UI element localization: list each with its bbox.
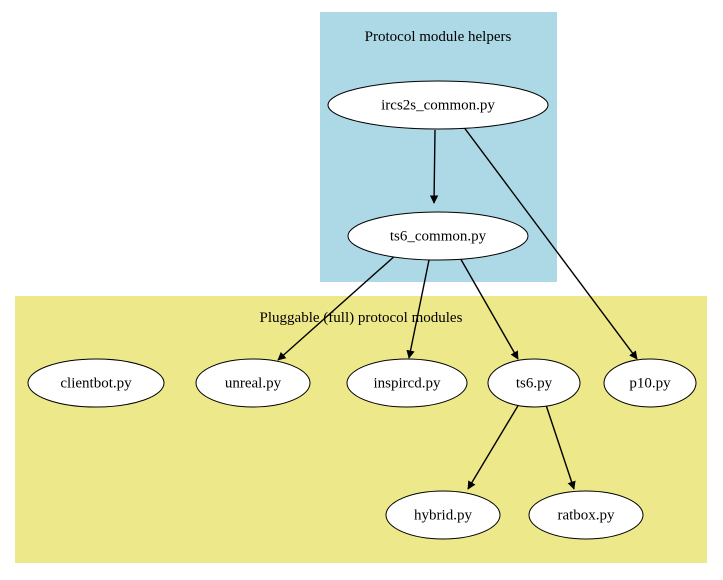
node-label-ts6: ts6.py <box>516 375 553 391</box>
node-p10[interactable]: p10.py <box>604 359 696 407</box>
node-label-p10: p10.py <box>629 375 671 391</box>
cluster-label-protocol-module-helpers: Protocol module helpers <box>365 29 512 45</box>
node-hybrid[interactable]: hybrid.py <box>386 491 500 539</box>
node-label-ratbox: ratbox.py <box>557 507 615 523</box>
dependency-graph: Protocol module helpers Pluggable (full)… <box>0 0 723 580</box>
graph-canvas: Protocol module helpers Pluggable (full)… <box>0 0 723 580</box>
node-label-clientbot: clientbot.py <box>60 375 132 391</box>
node-label-hybrid: hybrid.py <box>414 507 472 523</box>
node-label-unreal: unreal.py <box>225 375 282 391</box>
node-ratbox[interactable]: ratbox.py <box>529 491 643 539</box>
node-label-inspircd: inspircd.py <box>373 375 441 391</box>
edge-ircs2s_common-to-ts6_common <box>434 130 435 203</box>
node-label-ts6_common: ts6_common.py <box>390 228 487 244</box>
node-inspircd[interactable]: inspircd.py <box>347 359 467 407</box>
node-label-ircs2s_common: ircs2s_common.py <box>381 97 495 113</box>
node-ts6_common[interactable]: ts6_common.py <box>348 212 528 260</box>
node-clientbot[interactable]: clientbot.py <box>28 359 164 407</box>
node-ircs2s_common[interactable]: ircs2s_common.py <box>328 81 548 129</box>
node-unreal[interactable]: unreal.py <box>196 359 310 407</box>
node-ts6[interactable]: ts6.py <box>488 359 580 407</box>
cluster-label-pluggable-protocol-modules: Pluggable (full) protocol modules <box>260 310 463 326</box>
